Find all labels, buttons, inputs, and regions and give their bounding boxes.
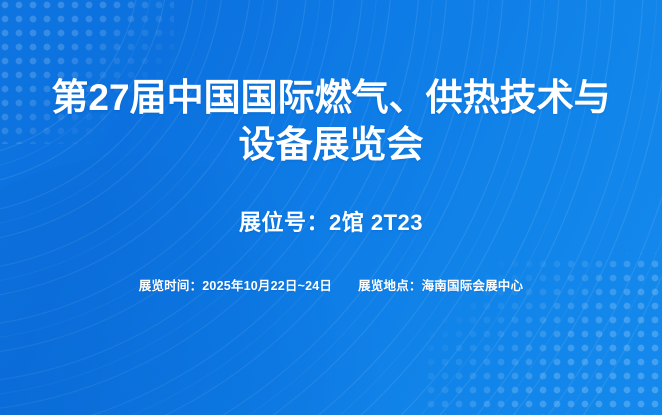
banner-title-line-2: 设备展览会 bbox=[31, 121, 631, 168]
banner-title: 第27届中国国际燃气、供热技术与 设备展览会 bbox=[31, 74, 631, 168]
banner-title-line-1: 第27届中国国际燃气、供热技术与 bbox=[31, 74, 631, 121]
exhibition-banner: 第27届中国国际燃气、供热技术与 设备展览会 展位号：2馆 2T23 展览时间：… bbox=[0, 0, 662, 415]
banner-meta-info: 展览时间：2025年10月22日~24日 展览地点：海南国际会展中心 bbox=[139, 275, 523, 294]
booth-number: 展位号：2馆 2T23 bbox=[239, 205, 423, 237]
exhibition-venue: 展览地点：海南国际会展中心 bbox=[358, 275, 523, 294]
exhibition-date: 展览时间：2025年10月22日~24日 bbox=[139, 275, 332, 294]
banner-content: 第27届中国国际燃气、供热技术与 设备展览会 展位号：2馆 2T23 展览时间：… bbox=[0, 0, 662, 415]
